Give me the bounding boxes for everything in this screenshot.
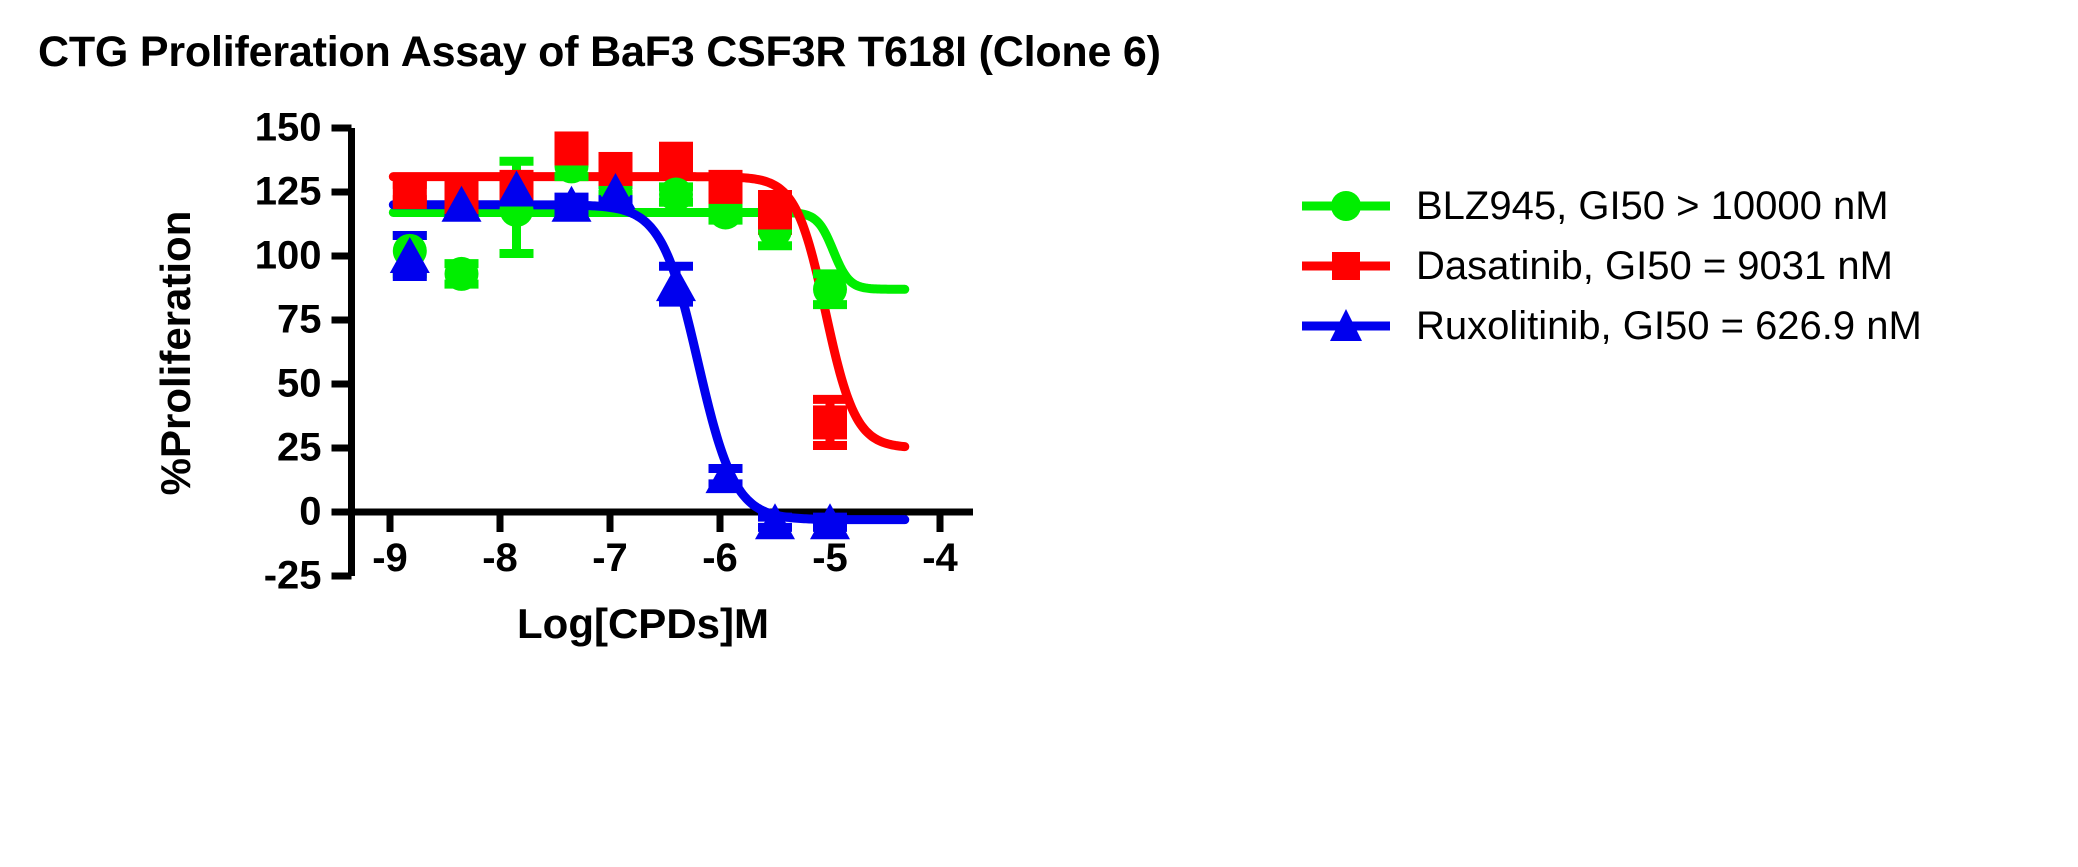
x-tick-label: -8 [482, 536, 518, 581]
axes-layer [332, 128, 974, 576]
x-tick-label: -7 [592, 536, 628, 581]
legend-item[interactable]: Ruxolitinib, GI50 = 626.9 nM [1300, 296, 2070, 356]
data-point-square [758, 195, 792, 229]
data-point-circle [659, 178, 693, 212]
x-tick-label: -6 [702, 536, 738, 581]
fit-curve-3 [393, 205, 905, 520]
data-point-square [813, 405, 847, 439]
x-tick-label: -5 [812, 536, 848, 581]
legend-item[interactable]: BLZ945, GI50 > 10000 nM [1300, 176, 2070, 236]
legend-item-label: Dasatinib, GI50 = 9031 nM [1416, 244, 1893, 288]
y-axis-title: %Proliferation [152, 211, 200, 496]
data-point-square [659, 142, 693, 176]
data-point-square [555, 131, 589, 165]
x-axis-title: Log[CPDs]M [517, 600, 769, 648]
y-tick-label: 150 [255, 106, 322, 151]
legend-marker-square-icon [1300, 244, 1392, 288]
legend-item-label: BLZ945, GI50 > 10000 nM [1416, 184, 1889, 228]
y-tick-label: 125 [255, 170, 322, 215]
chart-legend: BLZ945, GI50 > 10000 nM Dasatinib, GI50 … [1300, 176, 2070, 356]
data-point-triangle [706, 457, 746, 493]
y-tick-label: 0 [299, 490, 321, 535]
chart-figure: CTG Proliferation Assay of BaF3 CSF3R T6… [0, 0, 2078, 867]
y-tick-label: 50 [277, 362, 322, 407]
x-tick-label: -4 [922, 536, 958, 581]
data-point-circle [813, 272, 847, 306]
legend-marker-triangle-icon [1300, 304, 1392, 348]
y-tick-label: 75 [277, 298, 322, 343]
data-point-circle [445, 257, 479, 291]
data-point-square [393, 175, 427, 209]
y-tick-label: -25 [264, 554, 322, 599]
x-tick-label: -9 [372, 536, 408, 581]
legend-marker-circle-icon [1300, 184, 1392, 228]
y-tick-label: 25 [277, 426, 322, 471]
legend-item-label: Ruxolitinib, GI50 = 626.9 nM [1416, 304, 1922, 348]
curves-layer [393, 177, 905, 520]
data-point-square [709, 170, 743, 204]
legend-item[interactable]: Dasatinib, GI50 = 9031 nM [1300, 236, 2070, 296]
y-tick-label: 100 [255, 234, 322, 279]
